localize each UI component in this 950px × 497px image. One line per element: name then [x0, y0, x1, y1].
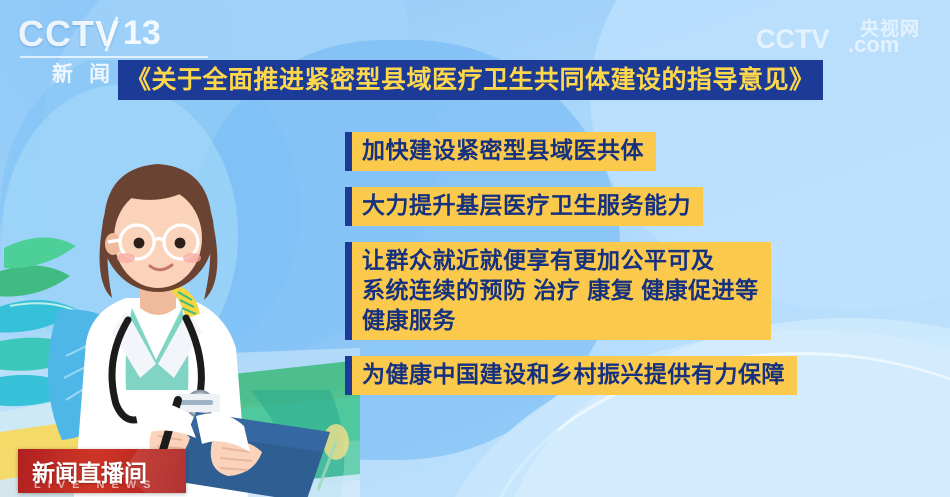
cctv-logo-subtitle: 新闻: [52, 58, 126, 88]
watermark-chinese: 央视网: [860, 14, 920, 41]
bullet-body: 为健康中国建设和乡村振兴提供有力保障: [352, 356, 797, 395]
bullet-line: 健康服务: [362, 306, 759, 336]
bullet-item: 让群众就近就便享有更加公平可及 系统连续的预防 治疗 康复 健康促进等 健康服务: [345, 242, 771, 341]
bullet-accent-bar: [345, 187, 352, 226]
program-live-bug: 新闻直播间 LIVE NEWS: [18, 449, 186, 493]
cctv-channel-number: 13: [123, 14, 161, 53]
bullet-list: 加快建设紧密型县域医共体 大力提升基层医疗卫生服务能力 让群众就近就便享有更加公…: [345, 132, 905, 411]
bullet-item: 加快建设紧密型县域医共体: [345, 132, 656, 171]
bullet-body: 大力提升基层医疗卫生服务能力: [352, 187, 703, 226]
program-name-english: LIVE NEWS: [34, 479, 158, 491]
bullet-item: 大力提升基层医疗卫生服务能力: [345, 187, 703, 226]
watermark-latin: CCTV: [756, 24, 830, 55]
cctv-logo-wordmark: CCTV: [18, 16, 218, 52]
bullet-line: 大力提升基层医疗卫生服务能力: [362, 191, 691, 221]
bullet-line: 加快建设紧密型县域医共体: [362, 136, 644, 166]
cctv-web-watermark: CCTV .com 央视网: [756, 12, 936, 56]
bullet-body: 加快建设紧密型县域医共体: [352, 132, 656, 171]
bullet-line: 让群众就近就便享有更加公平可及: [362, 246, 759, 276]
bullet-line: 为健康中国建设和乡村振兴提供有力保障: [362, 360, 785, 390]
bullet-accent-bar: [345, 132, 352, 171]
broadcast-frame: CCTV 13 新闻 CCTV .com 央视网 《关于全面推进紧密型县域医疗卫…: [0, 0, 950, 497]
bullet-line: 系统连续的预防 治疗 康复 健康促进等: [362, 276, 759, 306]
bullet-accent-bar: [345, 242, 352, 341]
headline-text: 《关于全面推进紧密型县域医疗卫生共同体建设的指导意见》: [126, 68, 815, 93]
headline-banner: 《关于全面推进紧密型县域医疗卫生共同体建设的指导意见》: [118, 60, 823, 100]
bullet-body: 让群众就近就便享有更加公平可及 系统连续的预防 治疗 康复 健康促进等 健康服务: [352, 242, 771, 341]
doctor-illustration: [0, 60, 360, 497]
bullet-accent-bar: [345, 356, 352, 395]
bullet-item: 为健康中国建设和乡村振兴提供有力保障: [345, 356, 797, 395]
